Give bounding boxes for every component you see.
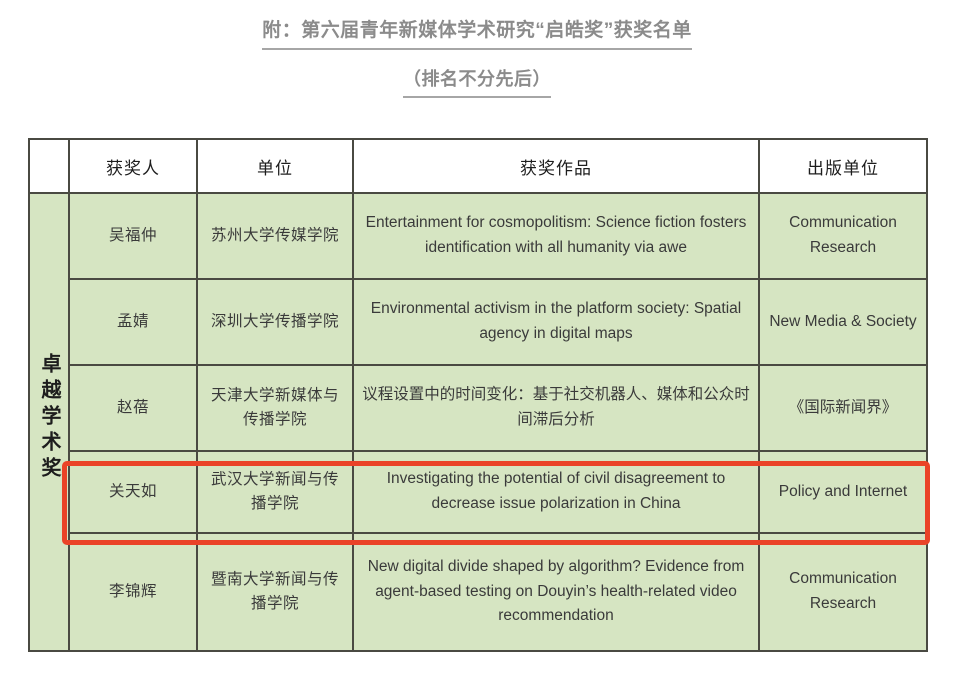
page-subtitle: （排名不分先后） [403,64,551,98]
table-row: 赵蓓 天津大学新媒体与传播学院 议程设置中的时间变化：基于社交机器人、媒体和公众… [29,365,927,451]
cell-work: Investigating the potential of civil dis… [353,451,759,533]
award-table: 获奖人 单位 获奖作品 出版单位 卓越学术奖 吴福仲 苏州大学传媒学院 Ente… [28,138,928,652]
cell-winner: 孟婧 [69,279,197,365]
cell-publisher: Communication Research [759,193,927,279]
category-cell: 卓越学术奖 [29,193,69,651]
cell-publisher: 《国际新闻界》 [759,365,927,451]
document-title-block: 附：第六届青年新媒体学术研究“启皓奖”获奖名单 （排名不分先后） [0,0,954,98]
cell-affiliation: 苏州大学传媒学院 [197,193,353,279]
header-cell-publisher: 出版单位 [759,139,927,193]
table-row-highlighted: 关天如 武汉大学新闻与传播学院 Investigating the potent… [29,451,927,533]
cell-work: Entertainment for cosmopolitism: Science… [353,193,759,279]
cell-affiliation: 天津大学新媒体与传播学院 [197,365,353,451]
table-body: 卓越学术奖 吴福仲 苏州大学传媒学院 Entertainment for cos… [29,193,927,651]
header-cell-affiliation: 单位 [197,139,353,193]
table-header: 获奖人 单位 获奖作品 出版单位 [29,139,927,193]
category-label: 卓越学术奖 [39,353,59,483]
header-row: 获奖人 单位 获奖作品 出版单位 [29,139,927,193]
cell-winner: 吴福仲 [69,193,197,279]
cell-winner: 关天如 [69,451,197,533]
cell-affiliation: 深圳大学传播学院 [197,279,353,365]
cell-work: New digital divide shaped by algorithm? … [353,533,759,651]
header-cell-work: 获奖作品 [353,139,759,193]
cell-affiliation: 武汉大学新闻与传播学院 [197,451,353,533]
table-row: 李锦辉 暨南大学新闻与传播学院 New digital divide shape… [29,533,927,651]
cell-publisher: New Media & Society [759,279,927,365]
table-row: 孟婧 深圳大学传播学院 Environmental activism in th… [29,279,927,365]
cell-affiliation: 暨南大学新闻与传播学院 [197,533,353,651]
cell-work: 议程设置中的时间变化：基于社交机器人、媒体和公众时间滞后分析 [353,365,759,451]
cell-winner: 李锦辉 [69,533,197,651]
cell-winner: 赵蓓 [69,365,197,451]
cell-publisher: Policy and Internet [759,451,927,533]
cell-work: Environmental activism in the platform s… [353,279,759,365]
header-cell-category [29,139,69,193]
cell-publisher: Communication Research [759,533,927,651]
award-table-wrapper: 获奖人 单位 获奖作品 出版单位 卓越学术奖 吴福仲 苏州大学传媒学院 Ente… [28,138,926,652]
page-title: 附：第六届青年新媒体学术研究“启皓奖”获奖名单 [262,16,692,50]
table-row: 卓越学术奖 吴福仲 苏州大学传媒学院 Entertainment for cos… [29,193,927,279]
header-cell-winner: 获奖人 [69,139,197,193]
